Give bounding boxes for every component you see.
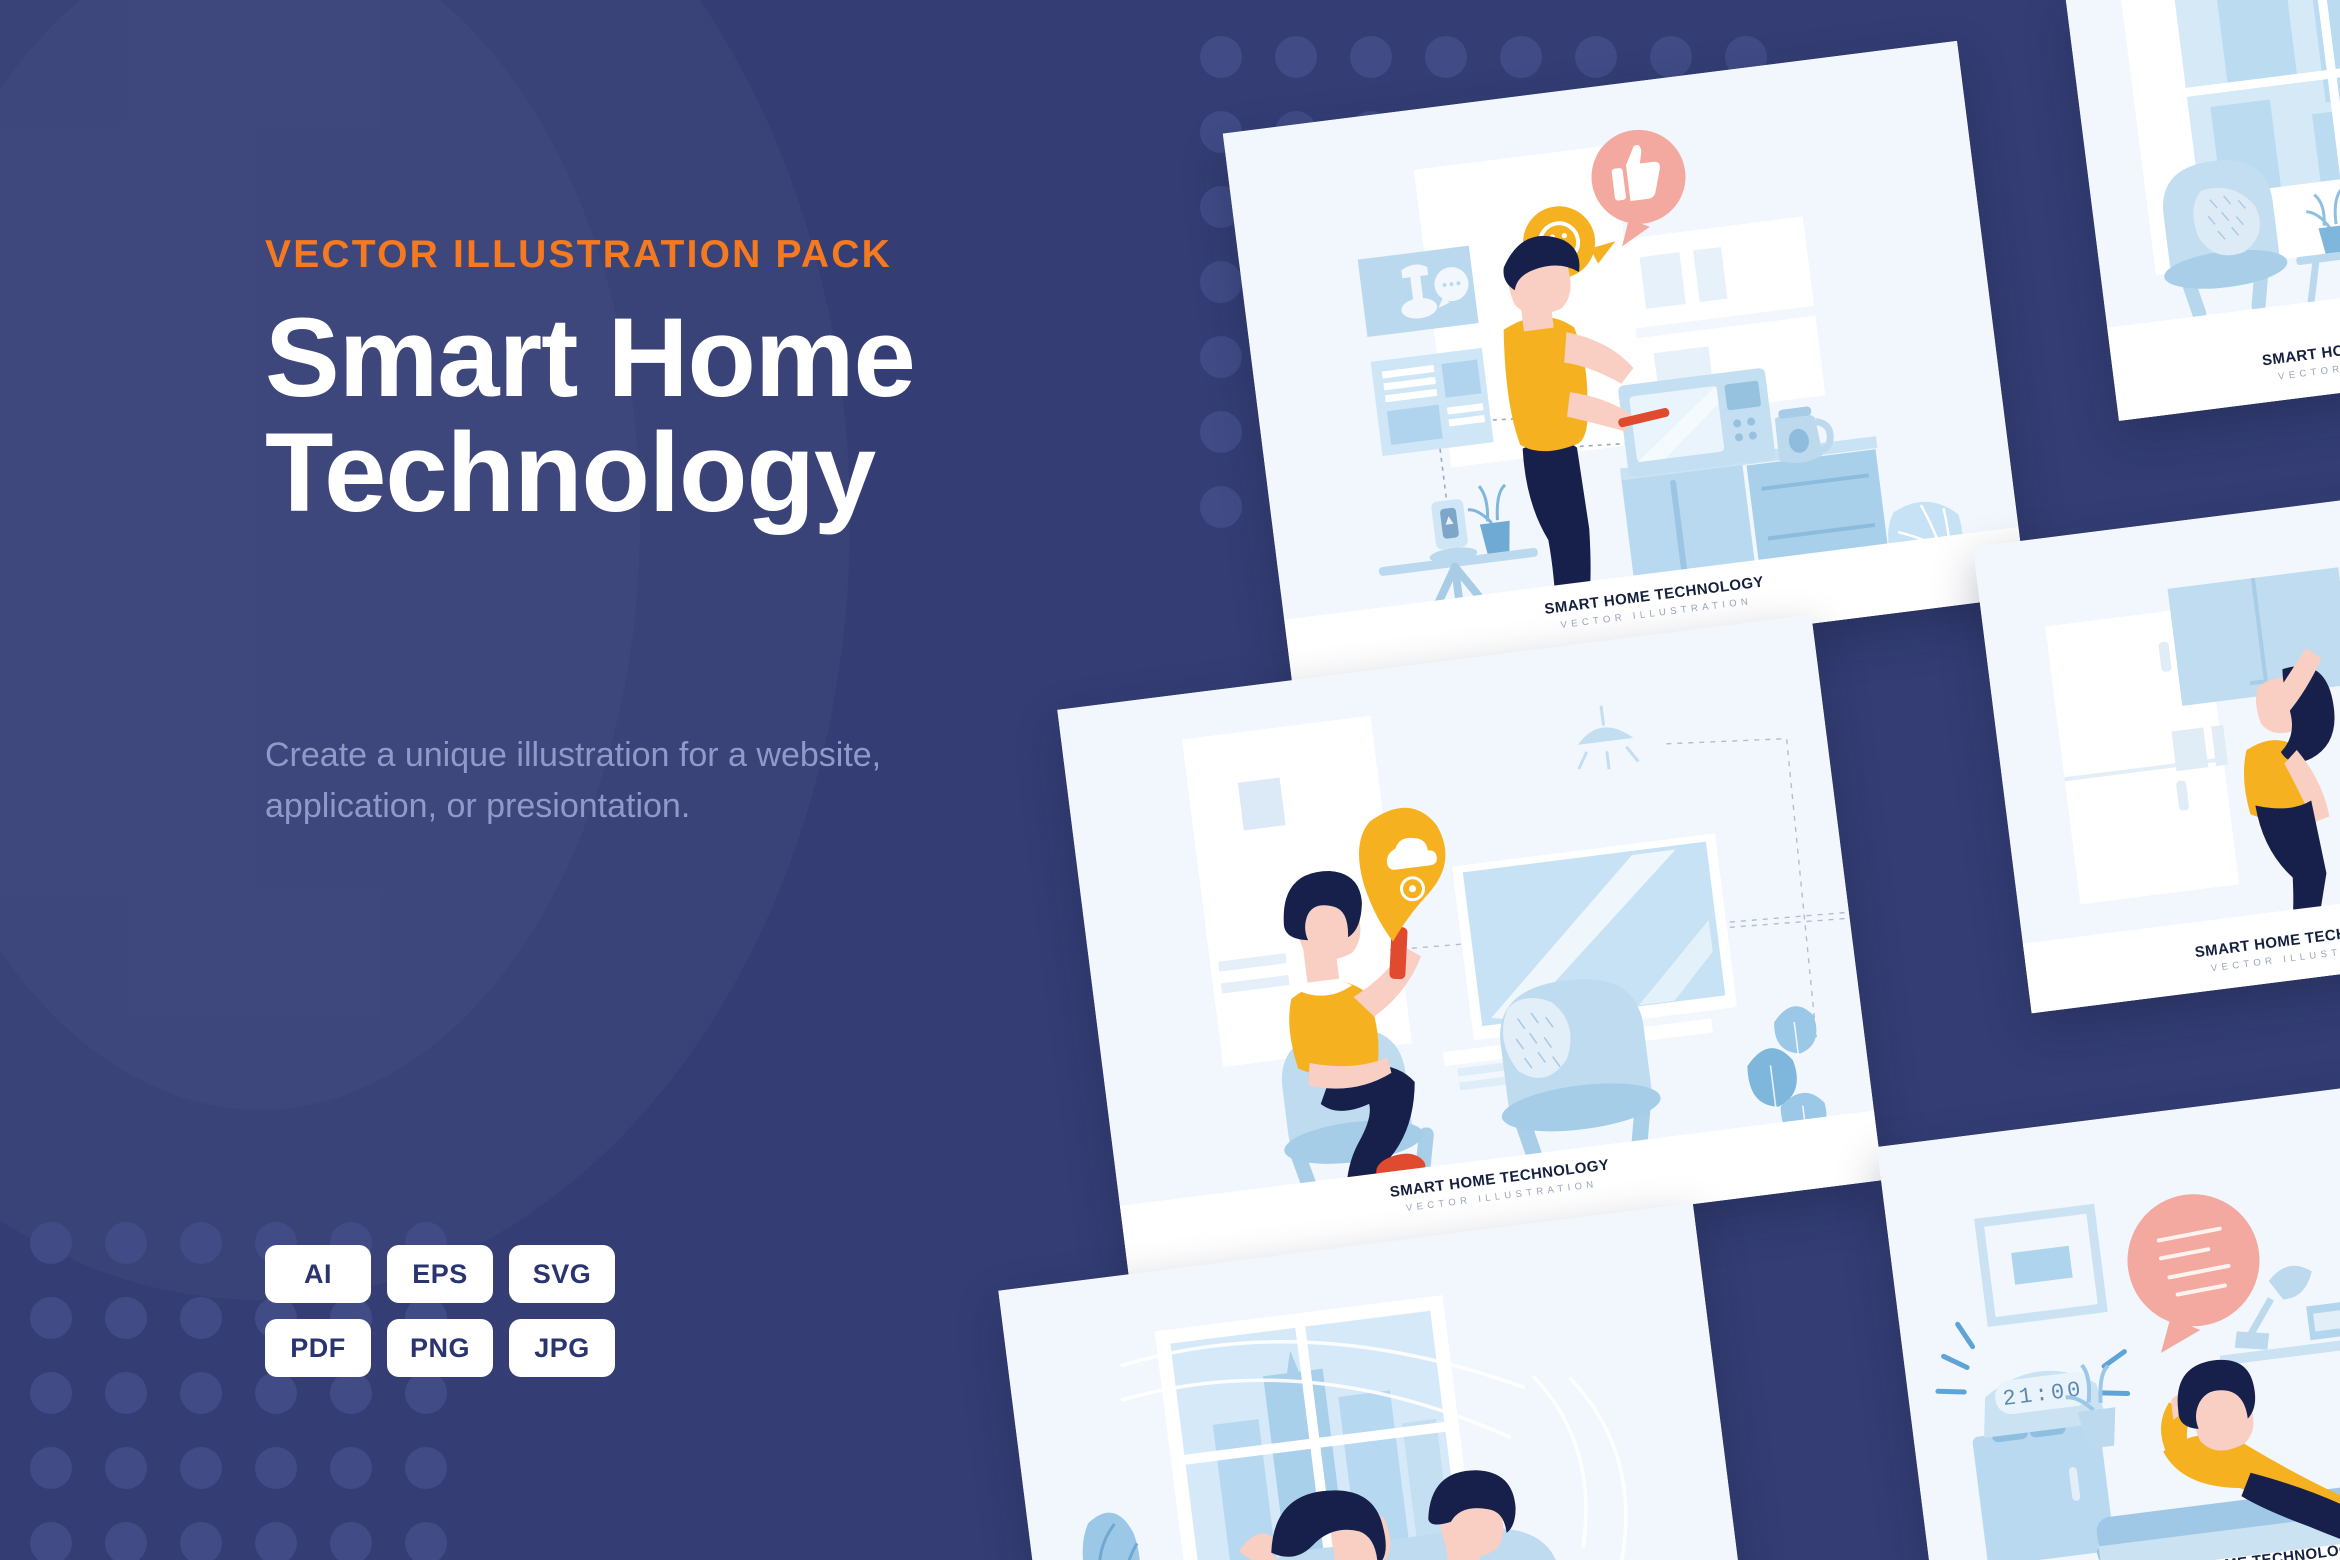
- illustration-card-kitchen[interactable]: SMART HOME TECHNOLOGY VECTOR ILLUSTRATIO…: [1223, 41, 2027, 689]
- decor-dot: [180, 1372, 222, 1414]
- headline-line-1: Smart Home: [265, 295, 915, 420]
- decor-dot: [180, 1447, 222, 1489]
- decor-dot: [180, 1222, 222, 1264]
- eyebrow-label: VECTOR ILLUSTRATION PACK: [265, 233, 892, 277]
- illustration-card-relax[interactable]: 21:00: [1877, 1067, 2340, 1560]
- decor-dot: [180, 1297, 222, 1339]
- decor-dot: [1200, 36, 1242, 78]
- illustration-card-livingroom[interactable]: SMART HOME TECHNOLOGY VECTOR ILLUSTRATIO…: [1057, 615, 1882, 1276]
- decor-dot: [105, 1522, 147, 1560]
- decor-dot: [1350, 36, 1392, 78]
- format-badge-jpg[interactable]: JPG: [509, 1319, 615, 1377]
- decor-dot: [1200, 336, 1242, 378]
- page-title: Smart Home Technology: [265, 300, 1145, 531]
- decor-dot: [105, 1447, 147, 1489]
- decor-dot: [1425, 36, 1467, 78]
- poster-stage: VECTOR ILLUSTRATION PACK Smart Home Tech…: [0, 0, 2340, 1560]
- format-badge-svg[interactable]: SVG: [509, 1245, 615, 1303]
- decor-dot: [1200, 411, 1242, 453]
- description-line-2: application, or presiontation.: [265, 781, 1095, 832]
- decor-dot: [1275, 36, 1317, 78]
- format-badge-row-2: PDF PNG JPG: [265, 1319, 725, 1377]
- decor-dot: [30, 1297, 72, 1339]
- decor-dot: [1500, 36, 1542, 78]
- decor-dot: [1200, 486, 1242, 528]
- decor-dot: [30, 1372, 72, 1414]
- decor-dot: [105, 1297, 147, 1339]
- illustration-card-fridge[interactable]: SMART HOME TECHNOLOGY VECTOR ILLUSTRATIO…: [1973, 477, 2340, 1013]
- decor-dot: [1575, 36, 1617, 78]
- headline-line-2: Technology: [265, 415, 1145, 530]
- format-badge-png[interactable]: PNG: [387, 1319, 493, 1377]
- format-badge-row-1: AI EPS SVG: [265, 1245, 725, 1303]
- illustration-card-armchairs[interactable]: SMART HOME TECHNOLOGY VECTOR ILLUSTRATIO…: [2065, 0, 2340, 421]
- format-badge-ai[interactable]: AI: [265, 1245, 371, 1303]
- decor-dot: [30, 1222, 72, 1264]
- description-line-1: Create a unique illustration for a websi…: [265, 736, 881, 774]
- relax-illustration: 21:00: [1877, 1067, 2340, 1560]
- decor-dot: [1200, 261, 1242, 303]
- decor-dot: [105, 1222, 147, 1264]
- hero-description: Create a unique illustration for a websi…: [265, 730, 1095, 832]
- decor-dot: [30, 1447, 72, 1489]
- decor-dot: [30, 1522, 72, 1560]
- format-badge-group: AI EPS SVG PDF PNG JPG: [265, 1245, 725, 1393]
- format-badge-eps[interactable]: EPS: [387, 1245, 493, 1303]
- decor-dot: [105, 1372, 147, 1414]
- format-badge-pdf[interactable]: PDF: [265, 1319, 371, 1377]
- decor-dot: [180, 1522, 222, 1560]
- decor-dot: [1650, 36, 1692, 78]
